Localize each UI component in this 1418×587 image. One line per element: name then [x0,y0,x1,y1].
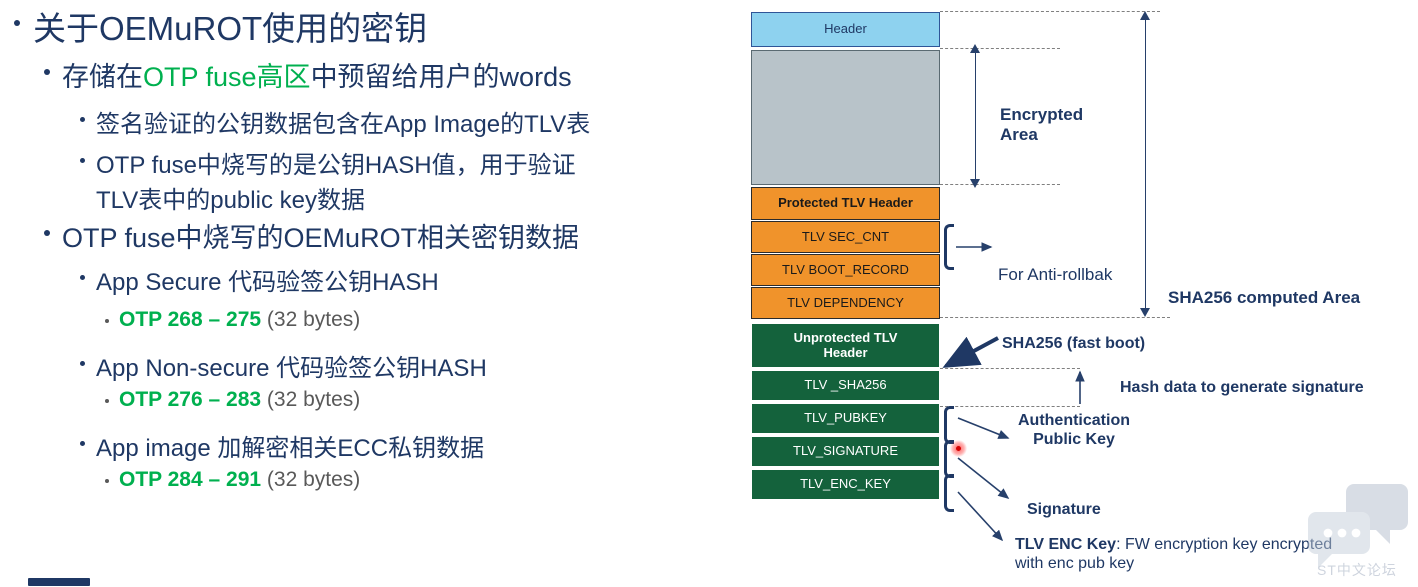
bullet-text: OTP 284 – 291 (32 bytes) [119,468,360,492]
bullet-dot-icon [44,69,50,75]
bullet-text-line2: TLV表中的public key数据 [96,187,365,214]
bullet-text: 存储在OTP fuse高区中预留给用户的words [62,55,572,94]
otp-range-value: OTP 276 – 283 [119,388,261,411]
bullet-dot-icon [80,158,85,163]
watermark: ST中文论坛 [1302,478,1412,582]
bullet-dot-icon [80,361,85,366]
highlight-otp-fuse: OTP fuse高区 [143,62,311,92]
bullet-app-nonsecure: App Non-secure 代码验签公钥HASH [80,348,487,383]
page-title: 关于OEMuROT使用的密钥 [33,2,427,50]
bullet-dot-icon [105,479,109,483]
bullet-otp-284-291: OTP 284 – 291 (32 bytes) [105,468,360,492]
bullet-dot-icon [14,20,20,26]
bullet-text: OTP 268 – 275 (32 bytes) [119,308,360,332]
bullet-text: OTP 276 – 283 (32 bytes) [119,388,360,412]
bullet-text: 签名验证的公钥数据包含在App Image的TLV表 [96,104,590,139]
bullet-dot-icon [80,441,85,446]
otp-size-value: (32 bytes) [267,468,360,491]
bullet-storage-otp: 存储在OTP fuse高区中预留给用户的words [44,55,572,94]
bullet-dot-icon [80,275,85,280]
otp-range-value: OTP 284 – 291 [119,468,261,491]
bullet-dot-icon [44,230,50,236]
watermark-text: ST中文论坛 [1302,560,1412,580]
bullet-dot-icon [80,117,85,122]
otp-size-value: (32 bytes) [267,388,360,411]
bullet-app-secure: App Secure 代码验签公钥HASH [80,262,439,297]
otp-size-value: (32 bytes) [267,308,360,331]
bullet-text: OTP fuse中烧写的OEMuROT相关密钥数据 [62,216,579,255]
slide-footer-tab [28,578,90,586]
bullet-dot-icon [105,399,109,403]
bullet-text: App Secure 代码验签公钥HASH [96,262,439,297]
bullet-otp-268-275: OTP 268 – 275 (32 bytes) [105,308,360,332]
cursor-click-marker [950,440,967,457]
bullet-otp-keys: OTP fuse中烧写的OEMuROT相关密钥数据 [44,216,579,255]
otp-range-value: OTP 268 – 275 [119,308,261,331]
bullet-tlv-table: 签名验证的公钥数据包含在App Image的TLV表 [80,104,590,139]
bullet-text-line1: OTP fuse中烧写的是公钥HASH值，用于验证 [96,152,576,179]
slide-text-column: 关于OEMuROT使用的密钥 存储在OTP fuse高区中预留给用户的words… [0,0,730,586]
bullet-text: App image 加解密相关ECC私钥数据 [96,428,484,463]
bullet-otp-276-283: OTP 276 – 283 (32 bytes) [105,388,360,412]
bullet-app-image-ecc: App image 加解密相关ECC私钥数据 [80,428,484,463]
bullet-hash-verify: OTP fuse中烧写的是公钥HASH值，用于验证 TLV表中的public k… [80,145,576,215]
bullet-text: OTP fuse中烧写的是公钥HASH值，用于验证 TLV表中的public k… [96,145,576,215]
bullet-text: App Non-secure 代码验签公钥HASH [96,348,487,383]
bullet-dot-icon [105,319,109,323]
slide-title-bullet: 关于OEMuROT使用的密钥 [14,2,427,50]
